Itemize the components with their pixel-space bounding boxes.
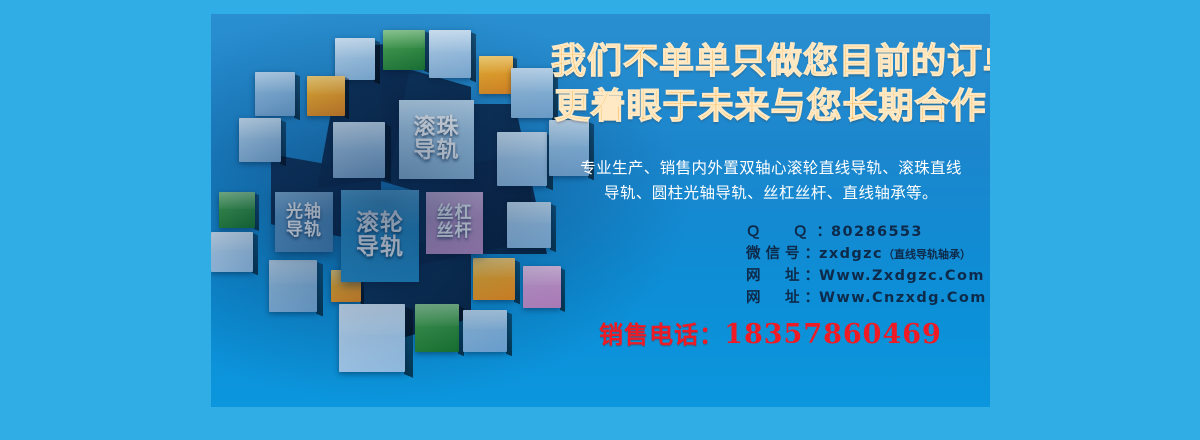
contact-info-block: Ｑ Ｑ ： 80286553 微信号 ： zxdgzc （直线导轨轴承） 网 址… xyxy=(746,221,990,309)
contact-note-wechat: （直线导轨轴承） xyxy=(883,247,971,264)
contact-row-qq: Ｑ Ｑ ： 80286553 xyxy=(746,221,990,243)
headline-line-2: 更着眼于未来与您长期合作 xyxy=(551,85,990,130)
contact-value-website-2[interactable]: Www.Cnzxdg.Com xyxy=(819,287,987,309)
contact-label: 网 址 xyxy=(746,265,805,287)
product-tile-line2: 导轨 xyxy=(356,236,404,260)
cube-blue xyxy=(463,310,507,352)
contact-separator: ： xyxy=(805,265,820,287)
product-tile-gunlun-daogui: 滚轮 导轨 xyxy=(341,190,419,282)
cube-orange xyxy=(479,56,513,94)
banner-text-column: 我们不单单只做您目前的订单 更着眼于未来与您长期合作 专业生产、销售内外置双轴心… xyxy=(551,14,990,407)
product-tile-line1: 滚轮 xyxy=(356,212,404,236)
cube-green xyxy=(383,30,425,70)
promotional-banner: 滚珠 导轨 光轴 导轨 滚轮 导轨 丝杠 丝杆 我们不单单只做您目前的订单 更着… xyxy=(0,0,1200,440)
cube-blue xyxy=(507,202,551,248)
sales-phone-block: 销售电话：18357860469 xyxy=(551,315,990,350)
contact-value-website-1[interactable]: Www.Zxdgzc.Com xyxy=(819,265,985,287)
contact-value-wechat: zxdgzc xyxy=(819,243,883,265)
cube-blue xyxy=(335,38,375,80)
cube-blue xyxy=(497,132,547,186)
contact-label: 网 址 xyxy=(746,287,805,309)
cube-orange xyxy=(307,76,345,116)
cube-orange xyxy=(473,258,515,300)
cube-blue xyxy=(269,260,317,312)
product-tile-line2: 丝杆 xyxy=(437,223,473,241)
cube-blue xyxy=(511,68,553,118)
contact-row-website-1: 网 址 ： Www.Zxdgzc.Com xyxy=(746,265,990,287)
product-tile-line2: 导轨 xyxy=(286,222,322,240)
cube-blue xyxy=(429,30,471,78)
product-tile-gunzhu-daogui: 滚珠 导轨 xyxy=(399,100,474,179)
cube-blue xyxy=(239,118,281,162)
contact-separator: ： xyxy=(805,287,820,309)
cube-green xyxy=(219,192,255,228)
product-tile-sigang-sigan: 丝杠 丝杆 xyxy=(426,192,483,254)
cube-blue xyxy=(255,72,295,116)
contact-value-qq: 80286553 xyxy=(831,221,923,243)
product-tile-guangzhou-daogui: 光轴 导轨 xyxy=(275,192,333,252)
contact-row-wechat: 微信号 ： zxdgzc （直线导轨轴承） xyxy=(746,243,990,265)
sales-phone-label: 销售电话： xyxy=(599,321,724,349)
contact-separator: ： xyxy=(805,243,820,265)
cube-blue xyxy=(211,232,253,272)
headline: 我们不单单只做您目前的订单 更着眼于未来与您长期合作 xyxy=(551,40,990,130)
cube-blue xyxy=(339,304,405,372)
contact-separator: ： xyxy=(817,221,832,243)
cube-blue xyxy=(333,122,385,178)
sales-phone-number: 18357860469 xyxy=(724,319,942,350)
contact-label: Ｑ Ｑ xyxy=(746,221,817,243)
cube-green xyxy=(415,304,459,352)
contact-label: 微信号 xyxy=(746,243,805,265)
company-description: 专业生产、销售内外置双轴心滚轮直线导轨、滚珠直线导轨、圆柱光轴导轨、丝杠丝杆、直… xyxy=(579,156,963,206)
headline-line-1: 我们不单单只做您目前的订单 xyxy=(551,42,990,82)
product-tile-line2: 导轨 xyxy=(413,140,459,163)
contact-row-website-2: 网 址 ： Www.Cnzxdg.Com xyxy=(746,287,990,309)
product-tile-line1: 滚珠 xyxy=(413,117,459,140)
banner-panel: 滚珠 导轨 光轴 导轨 滚轮 导轨 丝杠 丝杆 我们不单单只做您目前的订单 更着… xyxy=(211,14,990,407)
